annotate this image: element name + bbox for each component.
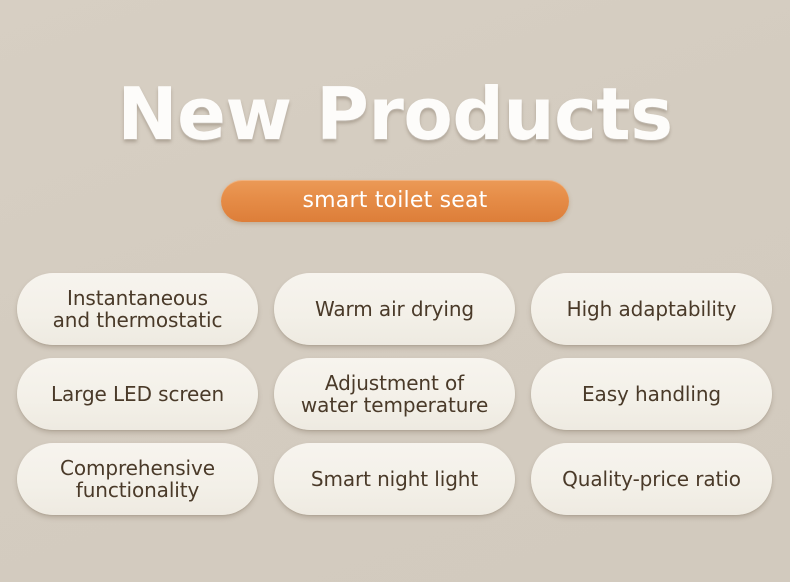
feature-pill: Easy handling: [531, 358, 772, 430]
feature-pill: Large LED screen: [17, 358, 258, 430]
product-feature-poster: New Products smart toilet seat Instantan…: [0, 0, 790, 582]
page-title: New Products: [117, 78, 672, 150]
feature-label: High adaptability: [531, 298, 772, 320]
feature-label: Large LED screen: [17, 383, 258, 405]
feature-pill: Warm air drying: [274, 273, 515, 345]
subtitle-container: smart toilet seat: [0, 180, 790, 222]
feature-label: Warm air drying: [274, 298, 515, 320]
product-category-badge: smart toilet seat: [221, 180, 569, 222]
feature-pill: Quality-price ratio: [531, 443, 772, 515]
feature-label: Quality-price ratio: [531, 468, 772, 490]
product-category-label: smart toilet seat: [302, 190, 487, 212]
feature-label: Instantaneous and thermostatic: [17, 287, 258, 331]
feature-label: Easy handling: [531, 383, 772, 405]
feature-label: Comprehensive functionality: [17, 457, 258, 501]
feature-grid: Instantaneous and thermostatic Warm air …: [17, 273, 773, 515]
feature-pill: Smart night light: [274, 443, 515, 515]
page-title-container: New Products: [0, 78, 790, 150]
feature-label: Adjustment of water temperature: [274, 372, 515, 416]
feature-pill: Instantaneous and thermostatic: [17, 273, 258, 345]
feature-pill: Adjustment of water temperature: [274, 358, 515, 430]
feature-pill: Comprehensive functionality: [17, 443, 258, 515]
feature-label: Smart night light: [274, 468, 515, 490]
feature-pill: High adaptability: [531, 273, 772, 345]
